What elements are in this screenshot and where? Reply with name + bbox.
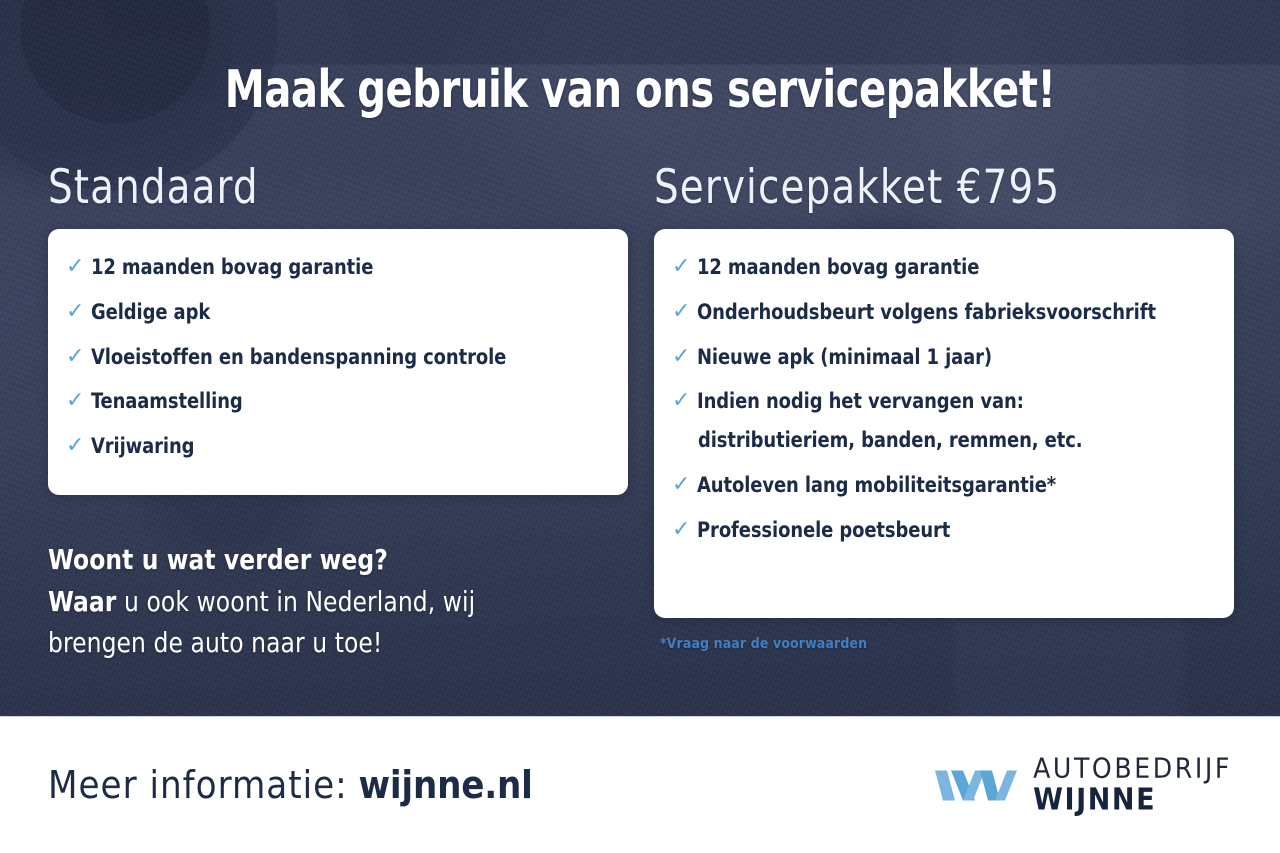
checkmark-icon: ✓ [672, 473, 690, 496]
list-item: ✓ Tenaamstelling [66, 389, 604, 414]
list-item-label: 12 maanden bovag garantie [91, 255, 373, 280]
standaard-column: Standaard ✓ 12 maanden bovag garantie ✓ … [48, 160, 628, 664]
servicepakket-card: ✓ 12 maanden bovag garantie ✓ Onderhouds… [654, 229, 1234, 618]
promo-line-1: Woont u wat verder weg? [48, 543, 388, 576]
list-item: ✓ 12 maanden bovag garantie [66, 255, 604, 280]
servicepakket-title: Servicepakket €795 [654, 160, 1188, 215]
checkmark-icon: ✓ [672, 518, 690, 541]
servicepakket-column: Servicepakket €795 ✓ 12 maanden bovag ga… [654, 160, 1234, 652]
brand-line-autobedrijf: AUTOBEDRIJF [1033, 755, 1232, 783]
checkmark-icon: ✓ [672, 300, 690, 323]
checkmark-icon: ✓ [66, 255, 84, 278]
list-item: ✓ Geldige apk [66, 300, 604, 325]
list-item: ✓ 12 maanden bovag garantie [672, 255, 1210, 280]
brand-line-wijnne: WIJNNE [1033, 786, 1232, 816]
standaard-feature-list: ✓ 12 maanden bovag garantie ✓ Geldige ap… [66, 255, 604, 459]
list-item-sublabel: distributieriem, banden, remmen, etc. [697, 428, 1082, 453]
list-item: ✓ Vloeistoffen en bandenspanning control… [66, 345, 604, 370]
checkmark-icon: ✓ [66, 389, 84, 412]
list-item-label: 12 maanden bovag garantie [697, 255, 979, 280]
list-item-label: Vrijwaring [91, 434, 194, 459]
list-item-label: Tenaamstelling [91, 389, 243, 414]
more-info-label: Meer informatie: [48, 763, 348, 807]
list-item: ✓ Autoleven lang mobiliteitsgarantie* [672, 473, 1210, 498]
list-item: ✓ Onderhoudsbeurt volgens fabrieksvoorsc… [672, 300, 1210, 325]
servicepakket-feature-list: ✓ 12 maanden bovag garantie ✓ Onderhouds… [672, 255, 1210, 542]
checkmark-icon: ✓ [672, 389, 690, 412]
list-item-label: Autoleven lang mobiliteitsgarantie* [697, 473, 1056, 498]
delivery-promo-text: Woont u wat verder weg? Waar u ook woont… [48, 539, 628, 664]
list-item-label: Indien nodig het vervangen van: [697, 389, 1024, 413]
poster-footer: Meer informatie: wijnne.nl AUTOBEDRIJF W… [0, 716, 1280, 853]
standaard-card: ✓ 12 maanden bovag garantie ✓ Geldige ap… [48, 229, 628, 495]
checkmark-icon: ✓ [66, 300, 84, 323]
promo-line-3: brengen de auto naar u toe! [48, 626, 382, 659]
checkmark-icon: ✓ [672, 255, 690, 278]
list-item-label: Onderhoudsbeurt volgens fabrieksvoorschr… [697, 300, 1156, 325]
list-item: ✓ Vrijwaring [66, 434, 604, 459]
checkmark-icon: ✓ [66, 434, 84, 457]
checkmark-icon: ✓ [66, 345, 84, 368]
promo-line-2-rest: u ook woont in Nederland, wij [116, 585, 475, 618]
list-item-label: Vloeistoffen en bandenspanning controle [91, 345, 506, 370]
list-item: ✓ Indien nodig het vervangen van: distri… [672, 389, 1210, 453]
list-item-label: Professionele poetsbeurt [697, 518, 950, 543]
website-link[interactable]: wijnne.nl [359, 763, 533, 807]
list-item-label: Nieuwe apk (minimaal 1 jaar) [697, 345, 992, 370]
service-package-poster: Maak gebruik van ons servicepakket! Stan… [0, 0, 1280, 853]
list-item: ✓ Nieuwe apk (minimaal 1 jaar) [672, 345, 1210, 370]
list-item-label: Geldige apk [91, 300, 210, 325]
brand-wordmark: AUTOBEDRIJF WIJNNE [1033, 755, 1232, 816]
conditions-footnote: *Vraag naar de voorwaarden [660, 636, 1234, 652]
brand-logo: AUTOBEDRIJF WIJNNE [933, 755, 1232, 816]
list-item: ✓ Professionele poetsbeurt [672, 518, 1210, 543]
wijnne-w-mark-icon [933, 762, 1017, 808]
promo-line-2-bold: Waar [48, 585, 116, 618]
checkmark-icon: ✓ [672, 345, 690, 368]
poster-headline: Maak gebruik van ons servicepakket! [90, 60, 1191, 120]
more-info-block: Meer informatie: wijnne.nl [48, 763, 533, 807]
standaard-title: Standaard [48, 160, 582, 215]
